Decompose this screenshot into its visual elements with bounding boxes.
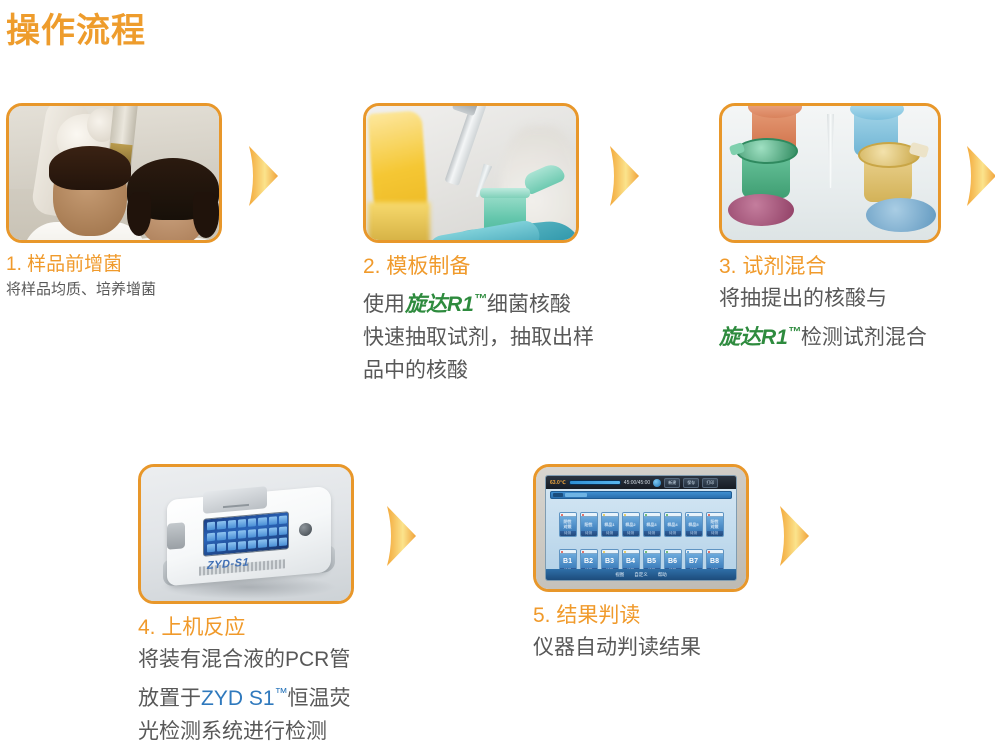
step-3-body-line-1: 将抽提出的核酸与	[719, 282, 995, 315]
well-a6-status: 待测	[665, 531, 681, 536]
step-5-heading: 5. 结果判读	[533, 601, 793, 631]
step-4-body-line-2: 放置于ZYD S1™恒温荧	[138, 676, 428, 715]
well-a7-label: 样品5	[686, 517, 702, 531]
well-b1-label: B1	[560, 554, 576, 568]
step-5-caption: 5. 结果判读 仪器自动判读结果	[533, 601, 793, 664]
step-5-photo: 63.0℃ 45:00/45:00 新建 保存 打印	[533, 464, 749, 592]
well-a5-status: 待测	[644, 531, 660, 536]
step-3-photo	[719, 103, 941, 243]
step-5-body: 仪器自动判读结果	[533, 631, 793, 664]
step-4-photo-scene: ZYD-S1	[141, 467, 351, 601]
step-2-heading: 2. 模板制备	[363, 252, 653, 282]
well-a2-label: 阳性	[581, 517, 597, 531]
step-4-caption: 4. 上机反应 将装有混合液的PCR管 放置于ZYD S1™恒温荧 光检测系统进…	[138, 613, 428, 748]
screen-bottom-tabs: 视图 自定义 帮助	[546, 569, 736, 580]
step-1: 1. 样品前增菌 将样品均质、培养增菌	[6, 103, 226, 301]
well-b5-label: B5	[644, 554, 660, 568]
step-2-caption: 2. 模板制备 使用旋达R1™细菌核酸 快速抽取试剂，抽取出样 品中的核酸	[363, 252, 653, 387]
progress-bar	[569, 480, 621, 485]
well-row-1: 阴性对照 待测 阳性 待测 样品1 待测	[546, 512, 736, 537]
well-b6-label: B6	[665, 554, 681, 568]
step-3-body: 将抽提出的核酸与 旋达R1™检测试剂混合	[719, 282, 995, 354]
step-2-body-line-1: 使用旋达R1™细菌核酸	[363, 282, 653, 321]
well-b2-label: B2	[581, 554, 597, 568]
bottom-tab-custom[interactable]: 自定义	[634, 572, 648, 578]
timer-readout: 45:00/45:00	[624, 480, 650, 486]
well-b4-label: B4	[623, 554, 639, 568]
page-title: 操作流程	[6, 9, 146, 53]
well-a6[interactable]: 样品4 待测	[664, 512, 682, 537]
step-1-body-line-1: 将样品均质、培养增菌	[6, 278, 226, 301]
play-icon[interactable]	[653, 479, 661, 487]
well-a4-label: 样品2	[623, 517, 639, 531]
step-5-body-line-1: 仪器自动判读结果	[533, 631, 793, 664]
step-3: 3. 试剂混合 将抽提出的核酸与 旋达R1™检测试剂混合	[719, 103, 995, 354]
step-2-body-line-3: 品中的核酸	[363, 354, 653, 387]
step-4-heading: 4. 上机反应	[138, 613, 428, 643]
step-5: 63.0℃ 45:00/45:00 新建 保存 打印	[533, 464, 793, 664]
well-a2[interactable]: 阳性 待测	[580, 512, 598, 537]
well-a4-status: 待测	[623, 531, 639, 536]
step-4-body-line-3: 光检测系统进行检测	[138, 715, 428, 748]
well-a7[interactable]: 样品5 待测	[685, 512, 703, 537]
well-a1-status: 待测	[560, 531, 576, 536]
step-2-photo-scene	[366, 106, 576, 240]
step-3-body-line-2: 旋达R1™检测试剂混合	[719, 315, 995, 354]
toolbar-button-print[interactable]: 打印	[702, 478, 718, 488]
well-a5-label: 样品3	[644, 517, 660, 531]
well-b8-label: B8	[707, 554, 723, 568]
step-1-caption: 1. 样品前增菌 将样品均质、培养增菌	[6, 252, 226, 301]
well-a3-status: 待测	[602, 531, 618, 536]
arrow-4-5	[385, 505, 419, 567]
well-a1[interactable]: 阴性对照 待测	[559, 512, 577, 537]
well-a6-label: 样品4	[665, 517, 681, 531]
well-a5[interactable]: 样品3 待测	[643, 512, 661, 537]
toolbar-button-save[interactable]: 保存	[683, 478, 699, 488]
well-a4[interactable]: 样品2 待测	[622, 512, 640, 537]
operation-flow-page: 操作流程 1. 样品前增菌 将样品均质、培养增菌	[0, 0, 995, 750]
arrow-2-3	[608, 145, 642, 207]
step-1-body: 将样品均质、培养增菌	[6, 278, 226, 301]
well-a3[interactable]: 样品1 待测	[601, 512, 619, 537]
well-a2-status: 待测	[581, 531, 597, 536]
well-a8-status: 待测	[707, 531, 723, 536]
step-3-heading: 3. 试剂混合	[719, 252, 995, 282]
step-3-photo-scene	[722, 106, 938, 240]
temperature-readout: 63.0℃	[550, 480, 566, 486]
step-1-photo-scene	[9, 106, 219, 240]
well-a8[interactable]: 阳性对照 待测	[706, 512, 724, 537]
step-1-heading: 1. 样品前增菌	[6, 252, 226, 278]
step-4-photo: ZYD-S1	[138, 464, 354, 604]
well-b7-label: B7	[686, 554, 702, 568]
step-2-photo	[363, 103, 579, 243]
arrow-5-next	[778, 505, 812, 567]
step-2-body: 使用旋达R1™细菌核酸 快速抽取试剂，抽取出样 品中的核酸	[363, 282, 653, 387]
step-1-photo	[6, 103, 222, 243]
well-a3-label: 样品1	[602, 517, 618, 531]
arrow-3-next	[965, 145, 995, 207]
well-a7-status: 待测	[686, 531, 702, 536]
well-b3-label: B3	[602, 554, 618, 568]
step-2-body-line-2: 快速抽取试剂，抽取出样	[363, 321, 653, 354]
step-5-photo-scene: 63.0℃ 45:00/45:00 新建 保存 打印	[536, 467, 746, 589]
arrow-1-2	[247, 145, 281, 207]
bottom-tab-help[interactable]: 帮助	[658, 572, 667, 578]
step-4-body: 将装有混合液的PCR管 放置于ZYD S1™恒温荧 光检测系统进行检测	[138, 643, 428, 748]
well-a8-label: 阳性对照	[707, 517, 723, 531]
well-a1-label: 阴性对照	[560, 517, 576, 531]
screen-top-bar: 63.0℃ 45:00/45:00 新建 保存 打印	[546, 476, 736, 489]
bottom-tab-view[interactable]: 视图	[615, 572, 624, 578]
step-3-caption: 3. 试剂混合 将抽提出的核酸与 旋达R1™检测试剂混合	[719, 252, 995, 354]
toolbar-button-new[interactable]: 新建	[664, 478, 680, 488]
step-4-body-line-1: 将装有混合液的PCR管	[138, 643, 428, 676]
result-screen: 63.0℃ 45:00/45:00 新建 保存 打印	[545, 475, 737, 581]
screen-address-bar	[550, 491, 732, 499]
